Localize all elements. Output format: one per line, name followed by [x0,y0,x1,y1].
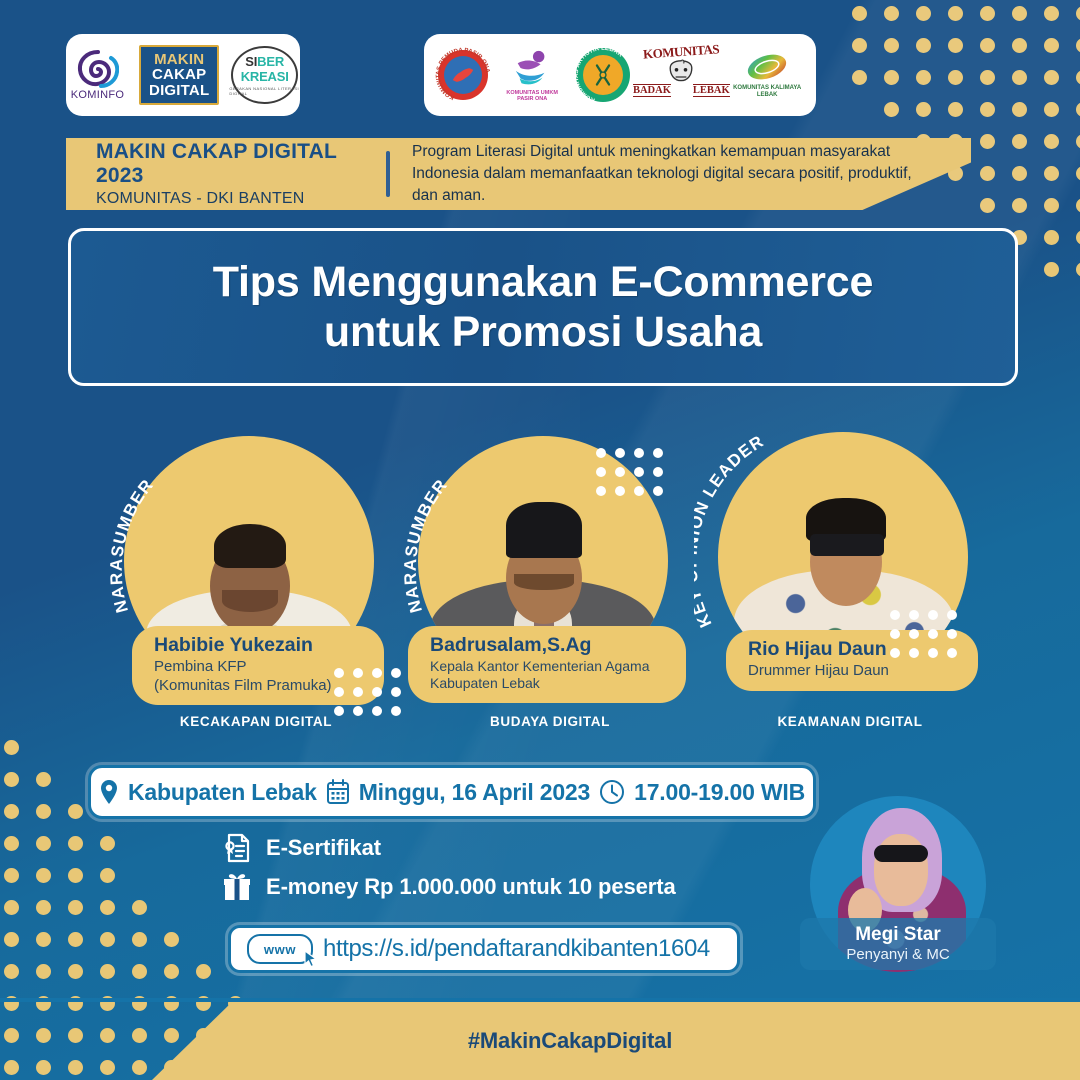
event-time: 17.00-19.00 WIB [634,779,805,806]
www-label: www [264,942,296,957]
makin-cakap-digital-logo: MAKIN CAKAP DIGITAL [139,45,219,105]
mc-name: Megi Star [855,925,941,946]
speaker-2-pillar: BUDAYA DIGITAL [400,714,700,729]
kominfo-logo: KOMINFO [66,50,129,101]
event-title-card: Tips Menggunakan E-Commerce untuk Promos… [68,228,1018,386]
event-location: Kabupaten Lebak [128,779,317,806]
speaker-2-nameplate: Badrusalam,S.Ag Kepala Kantor Kementeria… [408,626,686,703]
event-title-line-1: Tips Menggunakan E-Commerce [213,257,873,307]
program-title: MAKIN CAKAP DIGITAL 2023 [96,140,382,188]
circular-caption-icon: KOMUNITAS ARTISTIK LEBAK [572,44,634,106]
speaker-3-role-arc-text: KEY OPINION LEADER [694,431,767,630]
speaker-2-name: Badrusalam,S.Ag [430,635,672,657]
speaker-2-role-arc-text: NARASUMBER [401,475,452,615]
poster-root: KOMINFO MAKIN CAKAP DIGITAL SIBER KREASI… [0,0,1080,1080]
speaker-2-role-line-2: Kabupaten Lebak [430,675,672,692]
benefit-item-emoney: E-money Rp 1.000.000 untuk 10 peserta [222,872,676,902]
kominfo-mark-icon [77,50,119,88]
kalimaya-lebak-mark-icon [745,51,789,83]
svg-text:KOMUNITAS ARTISTIK LEBAK: KOMUNITAS ARTISTIK LEBAK [573,45,625,104]
pemuda-pasir-ona-mark-icon: KOMUNITAS PEMUDA PASIR ONA [438,50,488,100]
speaker-1-role-line-2: (Komunitas Film Pramuka) [154,677,370,695]
siberkreasi-logo: SIBER KREASI GERAKAN NASIONAL LITERASI D… [229,42,300,108]
artistik-lebak-mark-icon: KOMUNITAS ARTISTIK LEBAK [576,48,630,102]
benefit-label-certificate: E-Sertifikat [266,835,381,861]
partner-logo-umkm-pasir-ona: KOMUNITAS UMKM PASIR ONA [500,41,564,109]
registration-url: https://s.id/pendaftarandkibanten1604 [323,935,710,963]
partner-logo-bar: KOMUNITAS PEMUDA PASIR ONA KOMUNITAS UMK… [424,34,816,116]
siberkreasi-line-1: SIBER [245,54,284,69]
kominfo-label: KOMINFO [71,89,124,101]
partner-logo-badak-lebak: KOMUNITAS BADAK LEBAK [642,41,720,109]
certificate-icon [222,833,252,863]
svg-text:NARASUMBER: NARASUMBER [401,475,452,615]
badak-lebak-caption-right: LEBAK [693,84,730,97]
kalimaya-lebak-caption: KOMUNITAS KALIMAYA LEBAK [732,85,802,98]
benefits-list: E-Sertifikat E-money Rp 1.000.000 untuk … [222,833,676,911]
speaker-3-nameplate: Rio Hijau Daun Drummer Hijau Daun [726,630,978,691]
speaker-1-name: Habibie Yukezain [154,635,370,657]
svg-text:NARASUMBER: NARASUMBER [107,475,158,615]
clock-icon [599,779,625,805]
umkm-pasir-ona-mark-icon [510,48,554,88]
siberkreasi-subtitle: GERAKAN NASIONAL LITERASI DIGITAL [229,86,300,96]
speaker-3-pillar: KEAMANAN DIGITAL [700,714,1000,729]
footer-divider [0,998,1080,1002]
program-description: Program Literasi Digital untuk meningkat… [412,141,932,207]
partner-logo-kalimaya-lebak: KOMUNITAS KALIMAYA LEBAK [732,41,802,109]
svg-text:KOMUNITAS PEMUDA PASIR ONA: KOMUNITAS PEMUDA PASIR ONA [436,48,491,101]
program-banner-left: MAKIN CAKAP DIGITAL 2023 KOMUNITAS - DKI… [96,140,382,208]
kominfo-logo-bar: KOMINFO MAKIN CAKAP DIGITAL SIBER KREASI… [66,34,300,116]
gift-icon [222,872,252,902]
speaker-3-role-line-1: Drummer Hijau Daun [748,662,964,680]
mc-nameplate: Megi Star Penyanyi & MC [800,918,996,970]
calendar-icon [326,779,350,805]
speaker-1-pillar: KECAKAPAN DIGITAL [106,714,406,729]
benefit-item-certificate: E-Sertifikat [222,833,676,863]
speaker-1-nameplate: Habibie Yukezain Pembina KFP (Komunitas … [132,626,384,705]
speaker-3-name: Rio Hijau Daun [748,639,964,661]
footer-hashtag: #MakinCakapDigital [468,1028,672,1054]
event-date: Minggu, 16 April 2023 [359,779,590,806]
mcd-line-1: MAKIN [154,52,204,67]
speaker-1-role-line-1: Pembina KFP [154,658,370,676]
partner-logo-artistik-lebak: KOMUNITAS ARTISTIK LEBAK [576,41,630,109]
badak-lebak-caption-top: KOMUNITAS [643,41,720,62]
event-title-line-2: untuk Promosi Usaha [324,307,762,357]
mcd-line-2: CAKAP [152,67,206,82]
banner-divider [386,151,390,197]
speaker-1-role-arc-text: NARASUMBER [107,475,158,615]
rhino-icon [661,59,701,86]
partner-logo-pemuda-pasir-ona: KOMUNITAS PEMUDA PASIR ONA [438,41,488,109]
svg-text:KEY OPINION LEADER: KEY OPINION LEADER [694,431,767,630]
mc-card: Megi Star Penyanyi & MC [800,790,996,976]
umkm-pasir-ona-caption: KOMUNITAS UMKM PASIR ONA [500,90,564,102]
registration-link[interactable]: www https://s.id/pendaftarandkibanten160… [228,925,740,973]
mcd-line-3: DIGITAL [149,83,209,98]
program-subtitle: KOMUNITAS - DKI BANTEN [96,190,382,208]
badak-lebak-caption-left: BADAK [633,84,671,97]
map-pin-icon [99,779,119,805]
www-cursor-icon: www [247,934,313,964]
benefit-label-emoney: E-money Rp 1.000.000 untuk 10 peserta [266,874,676,900]
event-details-bar[interactable]: Kabupaten Lebak Minggu, 16 April 2023 17… [88,765,816,819]
siberkreasi-line-2: KREASI [241,69,289,84]
mc-role: Penyanyi & MC [846,946,949,963]
speaker-2-role-line-1: Kepala Kantor Kementerian Agama [430,658,672,675]
circular-caption-icon: KOMUNITAS PEMUDA PASIR ONA [434,46,492,104]
program-banner: MAKIN CAKAP DIGITAL 2023 KOMUNITAS - DKI… [66,138,971,210]
